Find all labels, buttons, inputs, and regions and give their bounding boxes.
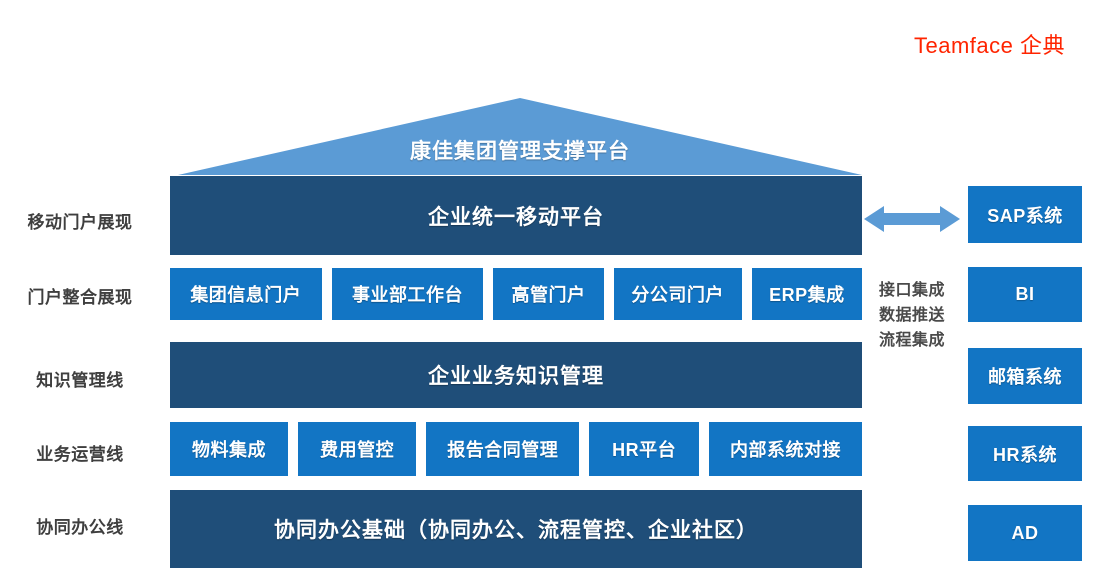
brand-logo: Teamface 企典 [914,28,1065,60]
stack-row-business-ops: 物料集成 费用管控 报告合同管理 HR平台 内部系统对接 [170,422,862,476]
integration-note-api: 接口集成 [864,278,960,303]
chip-division-workbench[interactable]: 事业部工作台 [332,268,484,320]
row-label-knowledge-line: 知识管理线 [0,366,160,391]
chip-hr-platform[interactable]: HR平台 [589,422,699,476]
roof-triangle-shape [178,97,862,177]
integration-connector-column: 接口集成 数据推送 流程集成 [864,176,964,568]
stack-row-collaboration: 协同办公基础（协同办公、流程管控、企业社区） [170,490,862,568]
integration-note-data-push: 数据推送 [864,303,960,328]
platform-roof: 康佳集团管理支撑平台 [178,97,862,177]
chip-erp-integration[interactable]: ERP集成 [752,268,862,320]
row-label-business-line: 业务运营线 [0,440,160,465]
band-collaboration-base[interactable]: 协同办公基础（协同办公、流程管控、企业社区） [170,490,862,568]
chip-executive-portal[interactable]: 高管门户 [493,268,603,320]
system-box-mail[interactable]: 邮箱系统 [968,348,1082,404]
chip-row-portals: 集团信息门户 事业部工作台 高管门户 分公司门户 ERP集成 [170,268,862,320]
row-label-collaboration-line: 协同办公线 [0,513,160,538]
chip-expense-control[interactable]: 费用管控 [298,422,416,476]
chip-report-contract-management[interactable]: 报告合同管理 [426,422,579,476]
band-mobile-platform[interactable]: 企业统一移动平台 [170,176,862,255]
system-box-bi[interactable]: BI [968,267,1082,322]
row-label-mobile-portal: 移动门户展现 [0,208,160,233]
system-box-hr[interactable]: HR系统 [968,426,1082,481]
chip-row-business-ops: 物料集成 费用管控 报告合同管理 HR平台 内部系统对接 [170,422,862,476]
band-business-knowledge[interactable]: 企业业务知识管理 [170,342,862,408]
row-label-portal-integration: 门户整合展现 [0,283,160,308]
chip-material-integration[interactable]: 物料集成 [170,422,288,476]
stack-row-portals: 集团信息门户 事业部工作台 高管门户 分公司门户 ERP集成 [170,268,862,320]
integration-note-process: 流程集成 [864,328,960,353]
stack-row-knowledge: 企业业务知识管理 [170,342,862,408]
system-box-ad[interactable]: AD [968,505,1082,561]
double-arrow-horizontal-icon [864,204,960,234]
integration-notes: 接口集成 数据推送 流程集成 [864,278,960,353]
stack-row-mobile-platform: 企业统一移动平台 [170,176,862,255]
chip-branch-portal[interactable]: 分公司门户 [614,268,742,320]
chip-group-info-portal[interactable]: 集团信息门户 [170,268,322,320]
chip-internal-system-docking[interactable]: 内部系统对接 [709,422,862,476]
system-box-sap[interactable]: SAP系统 [968,186,1082,243]
